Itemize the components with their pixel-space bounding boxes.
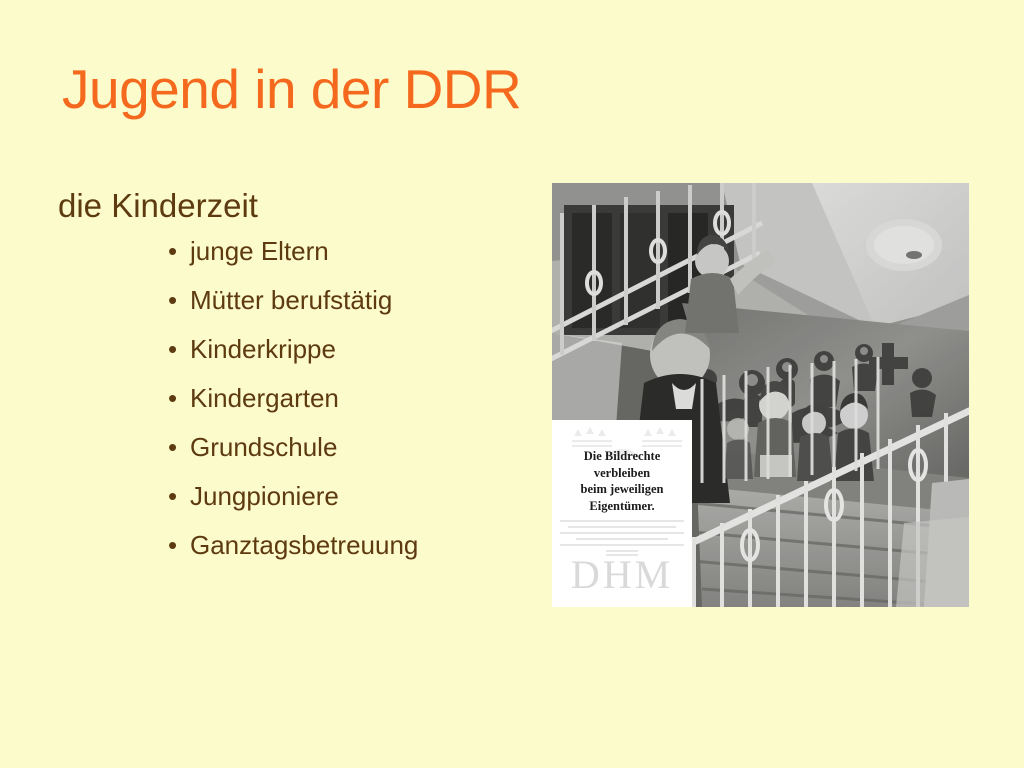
section-heading: die Kinderzeit	[58, 186, 528, 226]
watermark-line-4: Eigentümer.	[552, 498, 692, 515]
bullet-icon: •	[168, 432, 177, 463]
list-item-label: Ganztagsbetreuung	[190, 530, 418, 560]
slide: Jugend in der DDR die Kinderzeit • junge…	[0, 0, 1024, 768]
list-item-label: Grundschule	[190, 432, 337, 462]
list-item: • Kinderkrippe	[58, 334, 528, 365]
list-item: • Grundschule	[58, 432, 528, 463]
bullet-icon: •	[168, 530, 177, 561]
watermark-text: Die Bildrechte verbleiben beim jeweilige…	[552, 448, 692, 514]
bullet-icon: •	[168, 334, 177, 365]
list-item: • junge Eltern	[58, 236, 528, 267]
slide-photo: Die Bildrechte verbleiben beim jeweilige…	[552, 183, 969, 607]
list-item: • Mütter berufstätig	[58, 285, 528, 316]
list-item-label: Kindergarten	[190, 383, 339, 413]
content-body: die Kinderzeit • junge Eltern • Mütter b…	[58, 186, 528, 579]
list-item: • Ganztagsbetreuung	[58, 530, 528, 561]
list-item-label: Mütter berufstätig	[190, 285, 392, 315]
list-item-label: Jungpioniere	[190, 481, 339, 511]
list-item-label: junge Eltern	[190, 236, 329, 266]
bullet-icon: •	[168, 481, 177, 512]
list-item-label: Kinderkrippe	[190, 334, 336, 364]
watermark-line-3: beim jeweiligen	[552, 481, 692, 498]
watermark-line-2: verbleiben	[552, 465, 692, 482]
bullet-icon: •	[168, 285, 177, 316]
image-watermark: Die Bildrechte verbleiben beim jeweilige…	[552, 420, 692, 607]
page-title: Jugend in der DDR	[62, 58, 962, 120]
bullet-list: • junge Eltern • Mütter berufstätig • Ki…	[58, 236, 528, 561]
list-item: • Jungpioniere	[58, 481, 528, 512]
watermark-rule-lines	[560, 518, 684, 556]
dhm-logo: DHM	[552, 553, 692, 597]
watermark-line-1: Die Bildrechte	[552, 448, 692, 465]
list-item: • Kindergarten	[58, 383, 528, 414]
bullet-icon: •	[168, 383, 177, 414]
bullet-icon: •	[168, 236, 177, 267]
